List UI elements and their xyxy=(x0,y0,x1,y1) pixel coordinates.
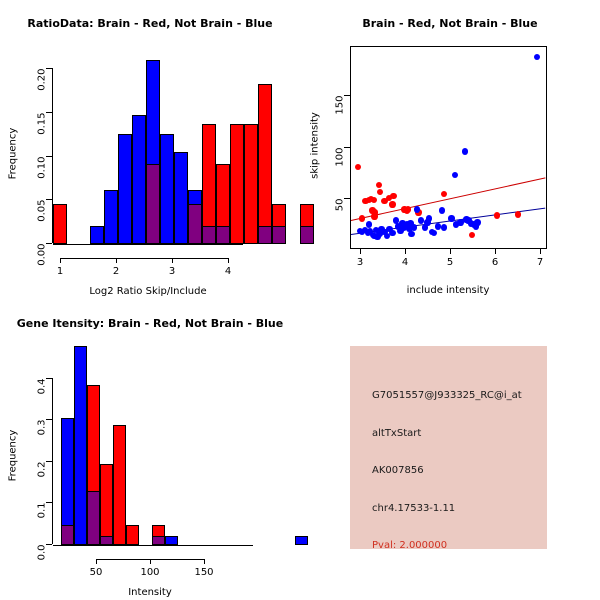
scatter-point xyxy=(414,206,420,212)
bar-red xyxy=(113,425,126,545)
scatter-point xyxy=(405,206,411,212)
scatter-x-ticklabel-3: 6 xyxy=(485,257,505,268)
gene-x-ticklabel-0: 50 xyxy=(82,567,110,578)
scatter-point xyxy=(439,207,445,213)
x-tick-2 xyxy=(116,258,117,263)
scatter-x-tick-5 xyxy=(450,249,451,254)
scatter-x-tick-4 xyxy=(405,249,406,254)
scatter-x-ticklabel-4: 7 xyxy=(530,257,550,268)
bar-blue xyxy=(165,536,178,545)
bar-blue xyxy=(132,115,146,244)
bar-overlap xyxy=(202,226,216,244)
ratio-histogram-bars xyxy=(53,55,243,244)
ratio-histogram-x-axis xyxy=(60,258,228,259)
ratio-y-ticklabel-0: 0.20 xyxy=(37,69,48,109)
ratio-histogram-title: RatioData: Brain - Red, Not Brain - Blue xyxy=(0,17,300,30)
panel-ratio-histogram: RatioData: Brain - Red, Not Brain - Blue… xyxy=(0,0,300,300)
scatter-point xyxy=(408,231,414,237)
scatter-point xyxy=(441,224,447,230)
locus-text: chr4.17533-1.11 xyxy=(372,503,455,514)
scatter-x-tick-6 xyxy=(495,249,496,254)
bar-overlap xyxy=(87,491,100,545)
bar-blue xyxy=(74,346,87,545)
x-tick-4 xyxy=(228,258,229,263)
scatter-y-ticklabel-1: 100 xyxy=(335,148,346,186)
bar-overlap xyxy=(188,204,202,244)
gene-x-tick-50 xyxy=(96,559,97,564)
bar-overlap xyxy=(258,226,272,244)
figure-canvas: RatioData: Brain - Red, Not Brain - Blue… xyxy=(0,0,600,600)
scatter-point xyxy=(389,230,395,236)
ratio-histogram-x-label: Log2 Ratio Skip/Include xyxy=(43,286,253,297)
scatter-x-tick-7 xyxy=(540,249,541,254)
ratio-x-ticklabel-0: 1 xyxy=(50,266,70,277)
ratio-y-ticklabel-4: 0.00 xyxy=(37,244,48,284)
scatter-point xyxy=(371,213,377,219)
event-type-text: altTxStart xyxy=(372,428,421,439)
bar-overlap xyxy=(100,536,113,545)
scatter-point xyxy=(376,182,382,188)
gene-y-ticklabel-2: 0.2 xyxy=(37,462,48,502)
gene-y-ticklabel-3: 0.3 xyxy=(37,420,48,460)
scatter-point xyxy=(441,191,447,197)
gene-info-box: G7051557@J933325_RC@i_at altTxStart AK00… xyxy=(350,346,547,549)
pval-text: Pval: 2.000000 xyxy=(372,540,447,551)
ratio-histogram-y-label: Frequency xyxy=(8,119,19,189)
scatter-y-label: skip intensity xyxy=(310,109,321,183)
scatter-y-ticklabel-2: 150 xyxy=(335,96,346,134)
scatter-point xyxy=(359,215,365,221)
bar-overlap xyxy=(216,226,230,244)
scatter-point xyxy=(355,164,361,170)
bar-overlap xyxy=(146,164,160,244)
scatter-point xyxy=(452,172,458,178)
gene-y-ticklabel-1: 0.1 xyxy=(37,503,48,543)
ratio-x-ticklabel-3: 4 xyxy=(218,266,238,277)
scatter-point xyxy=(515,211,521,217)
x-tick-1 xyxy=(60,258,61,263)
probe-id-text: G7051557@J933325_RC@i_at xyxy=(372,390,522,401)
scatter-title: Brain - Red, Not Brain - Blue xyxy=(300,17,600,30)
gene-x-ticklabel-2: 150 xyxy=(190,567,218,578)
gene-y-ticklabel-0: 0.0 xyxy=(37,545,48,585)
bar-red xyxy=(126,525,139,545)
ratio-y-ticklabel-3: 0.05 xyxy=(37,200,48,240)
scatter-point xyxy=(494,212,500,218)
gene-histogram-y-label: Frequency xyxy=(8,421,19,491)
bar-blue xyxy=(160,134,174,244)
ratio-histogram-baseline xyxy=(53,244,243,245)
gene-x-ticklabel-1: 100 xyxy=(136,567,164,578)
scatter-point xyxy=(411,224,417,230)
gene-x-tick-100 xyxy=(150,559,151,564)
bar-blue xyxy=(90,226,104,244)
scatter-x-ticklabel-0: 3 xyxy=(350,257,370,268)
panel-intensity-scatter: Brain - Red, Not Brain - Blue 150 100 50… xyxy=(300,0,600,300)
scatter-x-ticklabel-2: 5 xyxy=(440,257,460,268)
scatter-point xyxy=(418,217,424,223)
scatter-point xyxy=(431,230,437,236)
bar-red xyxy=(53,204,67,244)
scatter-point xyxy=(389,201,395,207)
bar-red xyxy=(230,124,244,244)
gene-histogram-title: Gene Itensity: Brain - Red, Not Brain - … xyxy=(0,317,300,330)
scatter-x-tick-3 xyxy=(360,249,361,254)
bar-red xyxy=(244,124,258,244)
bar-blue xyxy=(118,134,132,244)
scatter-x-label: include intensity xyxy=(358,285,538,296)
ratio-x-ticklabel-1: 2 xyxy=(106,266,126,277)
scatter-y-ticklabel-0: 50 xyxy=(335,199,346,237)
ratio-y-ticklabel-2: 0.10 xyxy=(37,157,48,197)
x-tick-3 xyxy=(172,258,173,263)
panel-gene-intensity-histogram: Gene Itensity: Brain - Red, Not Brain - … xyxy=(0,300,300,600)
scatter-point xyxy=(426,215,432,221)
ratio-y-ticklabel-1: 0.15 xyxy=(37,113,48,153)
gene-histogram-bars xyxy=(53,350,253,545)
scatter-data-area xyxy=(350,46,547,249)
bar-overlap xyxy=(152,536,165,545)
bar-blue xyxy=(174,152,188,244)
bar-overlap xyxy=(61,525,74,545)
scatter-x-ticklabel-1: 4 xyxy=(395,257,415,268)
scatter-point xyxy=(462,148,468,154)
gene-x-tick-150 xyxy=(204,559,205,564)
accession-text: AK007856 xyxy=(372,465,424,476)
scatter-point xyxy=(534,54,540,60)
panel-gene-info: G7051557@J933325_RC@i_at altTxStart AK00… xyxy=(300,300,600,600)
scatter-point xyxy=(366,221,372,227)
bar-overlap xyxy=(272,226,286,244)
gene-y-ticklabel-4: 0.4 xyxy=(37,379,48,419)
scatter-point xyxy=(390,193,396,199)
scatter-point xyxy=(377,189,383,195)
scatter-point xyxy=(469,232,475,238)
ratio-x-ticklabel-2: 3 xyxy=(162,266,182,277)
scatter-point xyxy=(371,197,377,203)
bar-red xyxy=(100,464,113,545)
bar-red xyxy=(258,84,272,244)
bar-blue xyxy=(104,190,118,244)
gene-histogram-baseline xyxy=(53,545,253,546)
scatter-point xyxy=(474,219,480,225)
gene-histogram-x-label: Intensity xyxy=(93,587,207,598)
